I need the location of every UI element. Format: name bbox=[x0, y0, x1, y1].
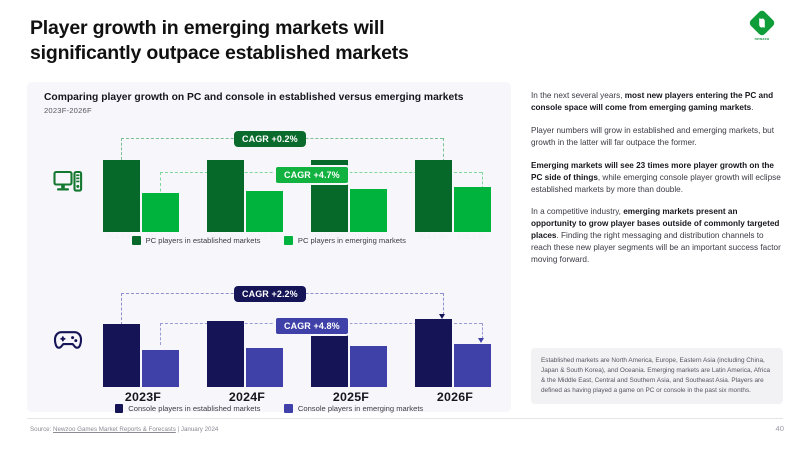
chart-card: Comparing player growth on PC and consol… bbox=[27, 82, 511, 412]
x-axis-label-2024F: 2024F bbox=[203, 390, 291, 404]
legend-swatch-icon bbox=[115, 404, 124, 413]
commentary-column: In the next several years, most new play… bbox=[531, 82, 783, 277]
legend-swatch-icon bbox=[132, 236, 141, 245]
definitions-note: Established markets are North America, E… bbox=[531, 348, 783, 404]
para-1-tail: . bbox=[751, 103, 753, 112]
bar-pc-established-2026F: $54.8 Bn bbox=[415, 160, 452, 232]
legend-label: PC players in emerging markets bbox=[298, 236, 406, 245]
pc-group-2023F: $54.5 Bn $37.1 Bn bbox=[99, 132, 187, 232]
source-link[interactable]: Newzoo Games Market Reports & Forecasts bbox=[53, 426, 176, 433]
bar-pc-emerging-2023F: $37.1 Bn bbox=[142, 193, 179, 232]
console-group-2026F: 2026F bbox=[411, 287, 499, 387]
bar-console-emerging-2026F bbox=[454, 344, 491, 387]
bar-console-established-2023F bbox=[103, 324, 140, 387]
slide: Player growth in emerging markets will s… bbox=[0, 0, 800, 450]
commentary-paragraph-2: Player numbers will grow in established … bbox=[531, 125, 783, 149]
bar-pc-emerging-2024F: $38.7 Bn bbox=[246, 191, 283, 232]
page-title: Player growth in emerging markets will s… bbox=[30, 16, 500, 67]
commentary-paragraph-1: In the next several years, most new play… bbox=[531, 90, 783, 114]
console-legend: Console players in established markets C… bbox=[27, 404, 511, 413]
pc-group-2026F: $54.8 Bn $42.3 Bn bbox=[411, 132, 499, 232]
console-cagr-established-badge: CAGR +2.2% bbox=[234, 286, 306, 302]
desktop-computer-icon bbox=[45, 160, 91, 206]
legend-swatch-icon bbox=[284, 404, 293, 413]
bar-console-emerging-2024F bbox=[246, 348, 283, 387]
newzoo-diamond-icon bbox=[749, 10, 775, 36]
pc-cagr-established-badge: CAGR +0.2% bbox=[234, 131, 306, 147]
x-axis-label-2026F: 2026F bbox=[411, 390, 499, 404]
x-axis-label-2025F: 2025F bbox=[307, 390, 395, 404]
console-plot-area: CAGR +2.2% CAGR +4.8% 2023F 2024F bbox=[99, 287, 503, 387]
para-4-tail: . Finding the right messaging and distri… bbox=[531, 231, 781, 264]
console-cagr-emerging-badge: CAGR +4.8% bbox=[274, 316, 350, 336]
legend-item-pc-established: PC players in established markets bbox=[132, 236, 260, 245]
legend-item-console-established: Console players in established markets bbox=[115, 404, 261, 413]
x-axis-label-2023F: 2023F bbox=[99, 390, 187, 404]
page-number: 40 bbox=[776, 424, 784, 433]
bar-console-established-2024F bbox=[207, 321, 244, 387]
logo-wordmark: newzoo bbox=[755, 37, 770, 41]
pc-legend: PC players in established markets PC pla… bbox=[27, 236, 511, 245]
source-line: Source: Newzoo Games Market Reports & Fo… bbox=[30, 426, 218, 433]
pc-plot-area: CAGR +0.2% CAGR +4.7% $54.5 Bn $37.1 Bn bbox=[99, 132, 503, 232]
legend-item-pc-emerging: PC players in emerging markets bbox=[284, 236, 406, 245]
pc-cagr-emerging-badge: CAGR +4.7% bbox=[274, 165, 350, 185]
console-group-2023F: 2023F bbox=[99, 287, 187, 387]
source-suffix: | January 2024 bbox=[176, 426, 219, 433]
legend-item-console-emerging: Console players in emerging markets bbox=[284, 404, 423, 413]
bar-pc-emerging-2026F: $42.3 Bn bbox=[454, 187, 491, 232]
commentary-paragraph-4: In a competitive industry, emerging mark… bbox=[531, 206, 783, 265]
para-2-lead: Player numbers will grow in established … bbox=[531, 126, 774, 147]
bar-pc-established-2024F: $54.6 Bn bbox=[207, 160, 244, 232]
bar-console-established-2026F bbox=[415, 319, 452, 387]
gamepad-icon bbox=[45, 317, 91, 363]
commentary-paragraph-3: Emerging markets will see 23 times more … bbox=[531, 160, 783, 196]
bar-pc-established-2023F: $54.5 Bn bbox=[103, 160, 140, 232]
legend-label: PC players in established markets bbox=[146, 236, 261, 245]
console-group-2024F: 2024F bbox=[203, 287, 291, 387]
chart-card-subtitle: 2023F-2026F bbox=[44, 106, 92, 115]
para-4-lead: In a competitive industry, bbox=[531, 207, 623, 216]
chart-card-title: Comparing player growth on PC and consol… bbox=[44, 92, 463, 103]
legend-label: Console players in established markets bbox=[128, 404, 260, 413]
legend-label: Console players in emerging markets bbox=[298, 404, 423, 413]
newzoo-logo: newzoo bbox=[740, 10, 784, 44]
bar-console-emerging-2023F bbox=[142, 350, 179, 387]
legend-swatch-icon bbox=[284, 236, 293, 245]
footer-divider bbox=[27, 418, 783, 419]
console-group-2025F: 2025F bbox=[307, 287, 395, 387]
para-1-lead: In the next several years, bbox=[531, 91, 625, 100]
bar-console-emerging-2025F bbox=[350, 346, 387, 387]
console-chart-panel: CAGR +2.2% CAGR +4.8% 2023F 2024F bbox=[27, 277, 511, 412]
pc-chart-panel: CAGR +0.2% CAGR +4.7% $54.5 Bn $37.1 Bn bbox=[27, 118, 511, 248]
bar-pc-emerging-2025F: $40.5 Bn bbox=[350, 189, 387, 232]
source-prefix: Source: bbox=[30, 426, 53, 433]
